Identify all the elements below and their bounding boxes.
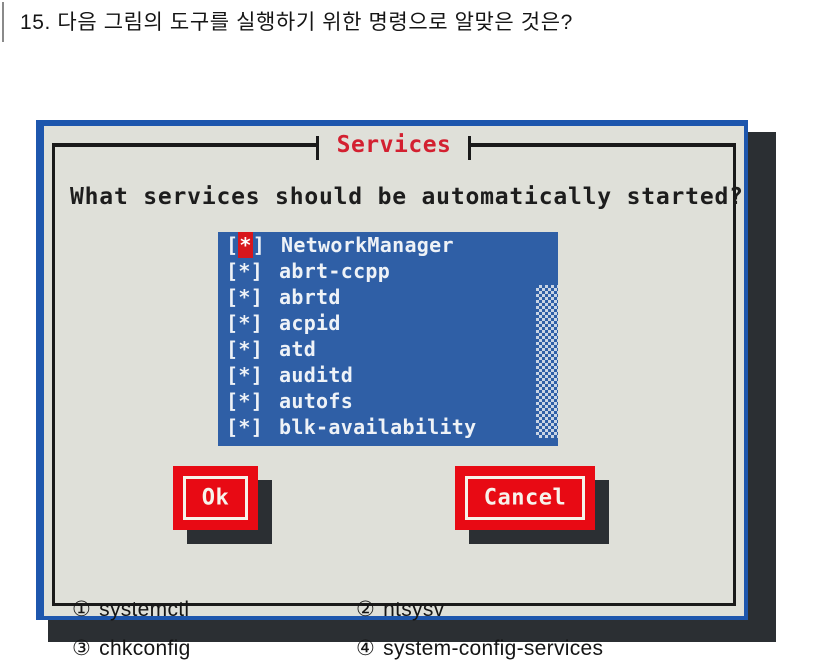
- checkbox-checked-mark[interactable]: *: [238, 336, 250, 362]
- service-name: atd: [279, 336, 316, 362]
- service-list-item[interactable]: [*]abrt-ccpp: [218, 258, 558, 284]
- tui-screenshot-figure: Services What services should be automat…: [18, 60, 758, 582]
- service-list-item[interactable]: [*]autofs: [218, 388, 558, 414]
- checkbox-checked-mark[interactable]: *: [238, 232, 252, 258]
- checkbox-checked-mark[interactable]: *: [238, 310, 250, 336]
- answer-option-4-label: system-config-services: [383, 637, 603, 660]
- cancel-button[interactable]: Cancel: [455, 466, 595, 530]
- service-name: auditd: [279, 362, 353, 388]
- checkbox-checked-mark[interactable]: *: [238, 258, 250, 284]
- checkbox-close-bracket: ]: [251, 336, 263, 362]
- checkbox-close-bracket: ]: [253, 232, 265, 258]
- title-tick-right: [468, 136, 471, 160]
- service-name: abrtd: [279, 284, 341, 310]
- answer-option-1[interactable]: ①systemctl: [72, 597, 189, 622]
- answer-option-2[interactable]: ②ntsysv: [356, 597, 444, 622]
- service-list-item[interactable]: [*]abrtd: [218, 284, 558, 310]
- service-name: acpid: [279, 310, 341, 336]
- question-left-rule: [2, 2, 4, 42]
- answer-option-3[interactable]: ③chkconfig: [72, 636, 191, 661]
- scrollbar-thumb[interactable]: [536, 232, 558, 285]
- checkbox-checked-mark[interactable]: *: [238, 388, 250, 414]
- answer-option-1-label: systemctl: [99, 598, 189, 621]
- checkbox-close-bracket: ]: [251, 258, 263, 284]
- service-list-item[interactable]: [*]auditd: [218, 362, 558, 388]
- checkbox-open-bracket: [: [226, 310, 238, 336]
- question-text: 15. 다음 그림의 도구를 실행하기 위한 명령으로 알맞은 것은?: [20, 6, 573, 36]
- checkbox-close-bracket: ]: [251, 388, 263, 414]
- answer-option-2-label: ntsysv: [383, 598, 444, 621]
- answer-option-1-number: ①: [72, 598, 91, 621]
- ok-button-label: Ok: [173, 486, 258, 511]
- service-name: autofs: [279, 388, 353, 414]
- list-scrollbar[interactable]: [536, 232, 558, 446]
- scrollbar-trough[interactable]: [536, 285, 558, 438]
- checkbox-checked-mark[interactable]: *: [238, 284, 250, 310]
- dialog-prompt: What services should be automatically st…: [70, 184, 744, 210]
- answer-option-3-number: ③: [72, 637, 91, 660]
- answer-option-3-label: chkconfig: [99, 637, 190, 660]
- service-list[interactable]: [*]NetworkManager[*]abrt-ccpp[*]abrtd[*]…: [218, 232, 558, 446]
- service-list-item[interactable]: [*]NetworkManager: [218, 232, 558, 258]
- title-rule-right: [470, 143, 736, 146]
- checkbox-close-bracket: ]: [251, 310, 263, 336]
- answer-option-2-number: ②: [356, 598, 375, 621]
- checkbox-open-bracket: [: [226, 284, 238, 310]
- title-rule-left: [52, 143, 318, 146]
- checkbox-checked-mark[interactable]: *: [238, 362, 250, 388]
- cancel-button-label: Cancel: [455, 486, 595, 511]
- checkbox-close-bracket: ]: [251, 414, 263, 440]
- ok-button[interactable]: Ok: [173, 466, 258, 530]
- service-list-item[interactable]: [*]atd: [218, 336, 558, 362]
- checkbox-close-bracket: ]: [251, 284, 263, 310]
- answer-option-4-number: ④: [356, 637, 375, 660]
- service-list-item[interactable]: [*]blk-availability: [218, 414, 558, 440]
- answer-option-4[interactable]: ④system-config-services: [356, 636, 603, 661]
- checkbox-checked-mark[interactable]: *: [238, 414, 250, 440]
- service-name: abrt-ccpp: [279, 258, 390, 284]
- service-list-item[interactable]: [*]acpid: [218, 310, 558, 336]
- checkbox-open-bracket: [: [226, 336, 238, 362]
- checkbox-open-bracket: [: [226, 232, 238, 258]
- dialog-title: Services: [320, 132, 468, 158]
- checkbox-close-bracket: ]: [251, 362, 263, 388]
- checkbox-open-bracket: [: [226, 414, 238, 440]
- checkbox-open-bracket: [: [226, 388, 238, 414]
- checkbox-open-bracket: [: [226, 258, 238, 284]
- service-name: NetworkManager: [281, 232, 454, 258]
- checkbox-open-bracket: [: [226, 362, 238, 388]
- service-name: blk-availability: [279, 414, 476, 440]
